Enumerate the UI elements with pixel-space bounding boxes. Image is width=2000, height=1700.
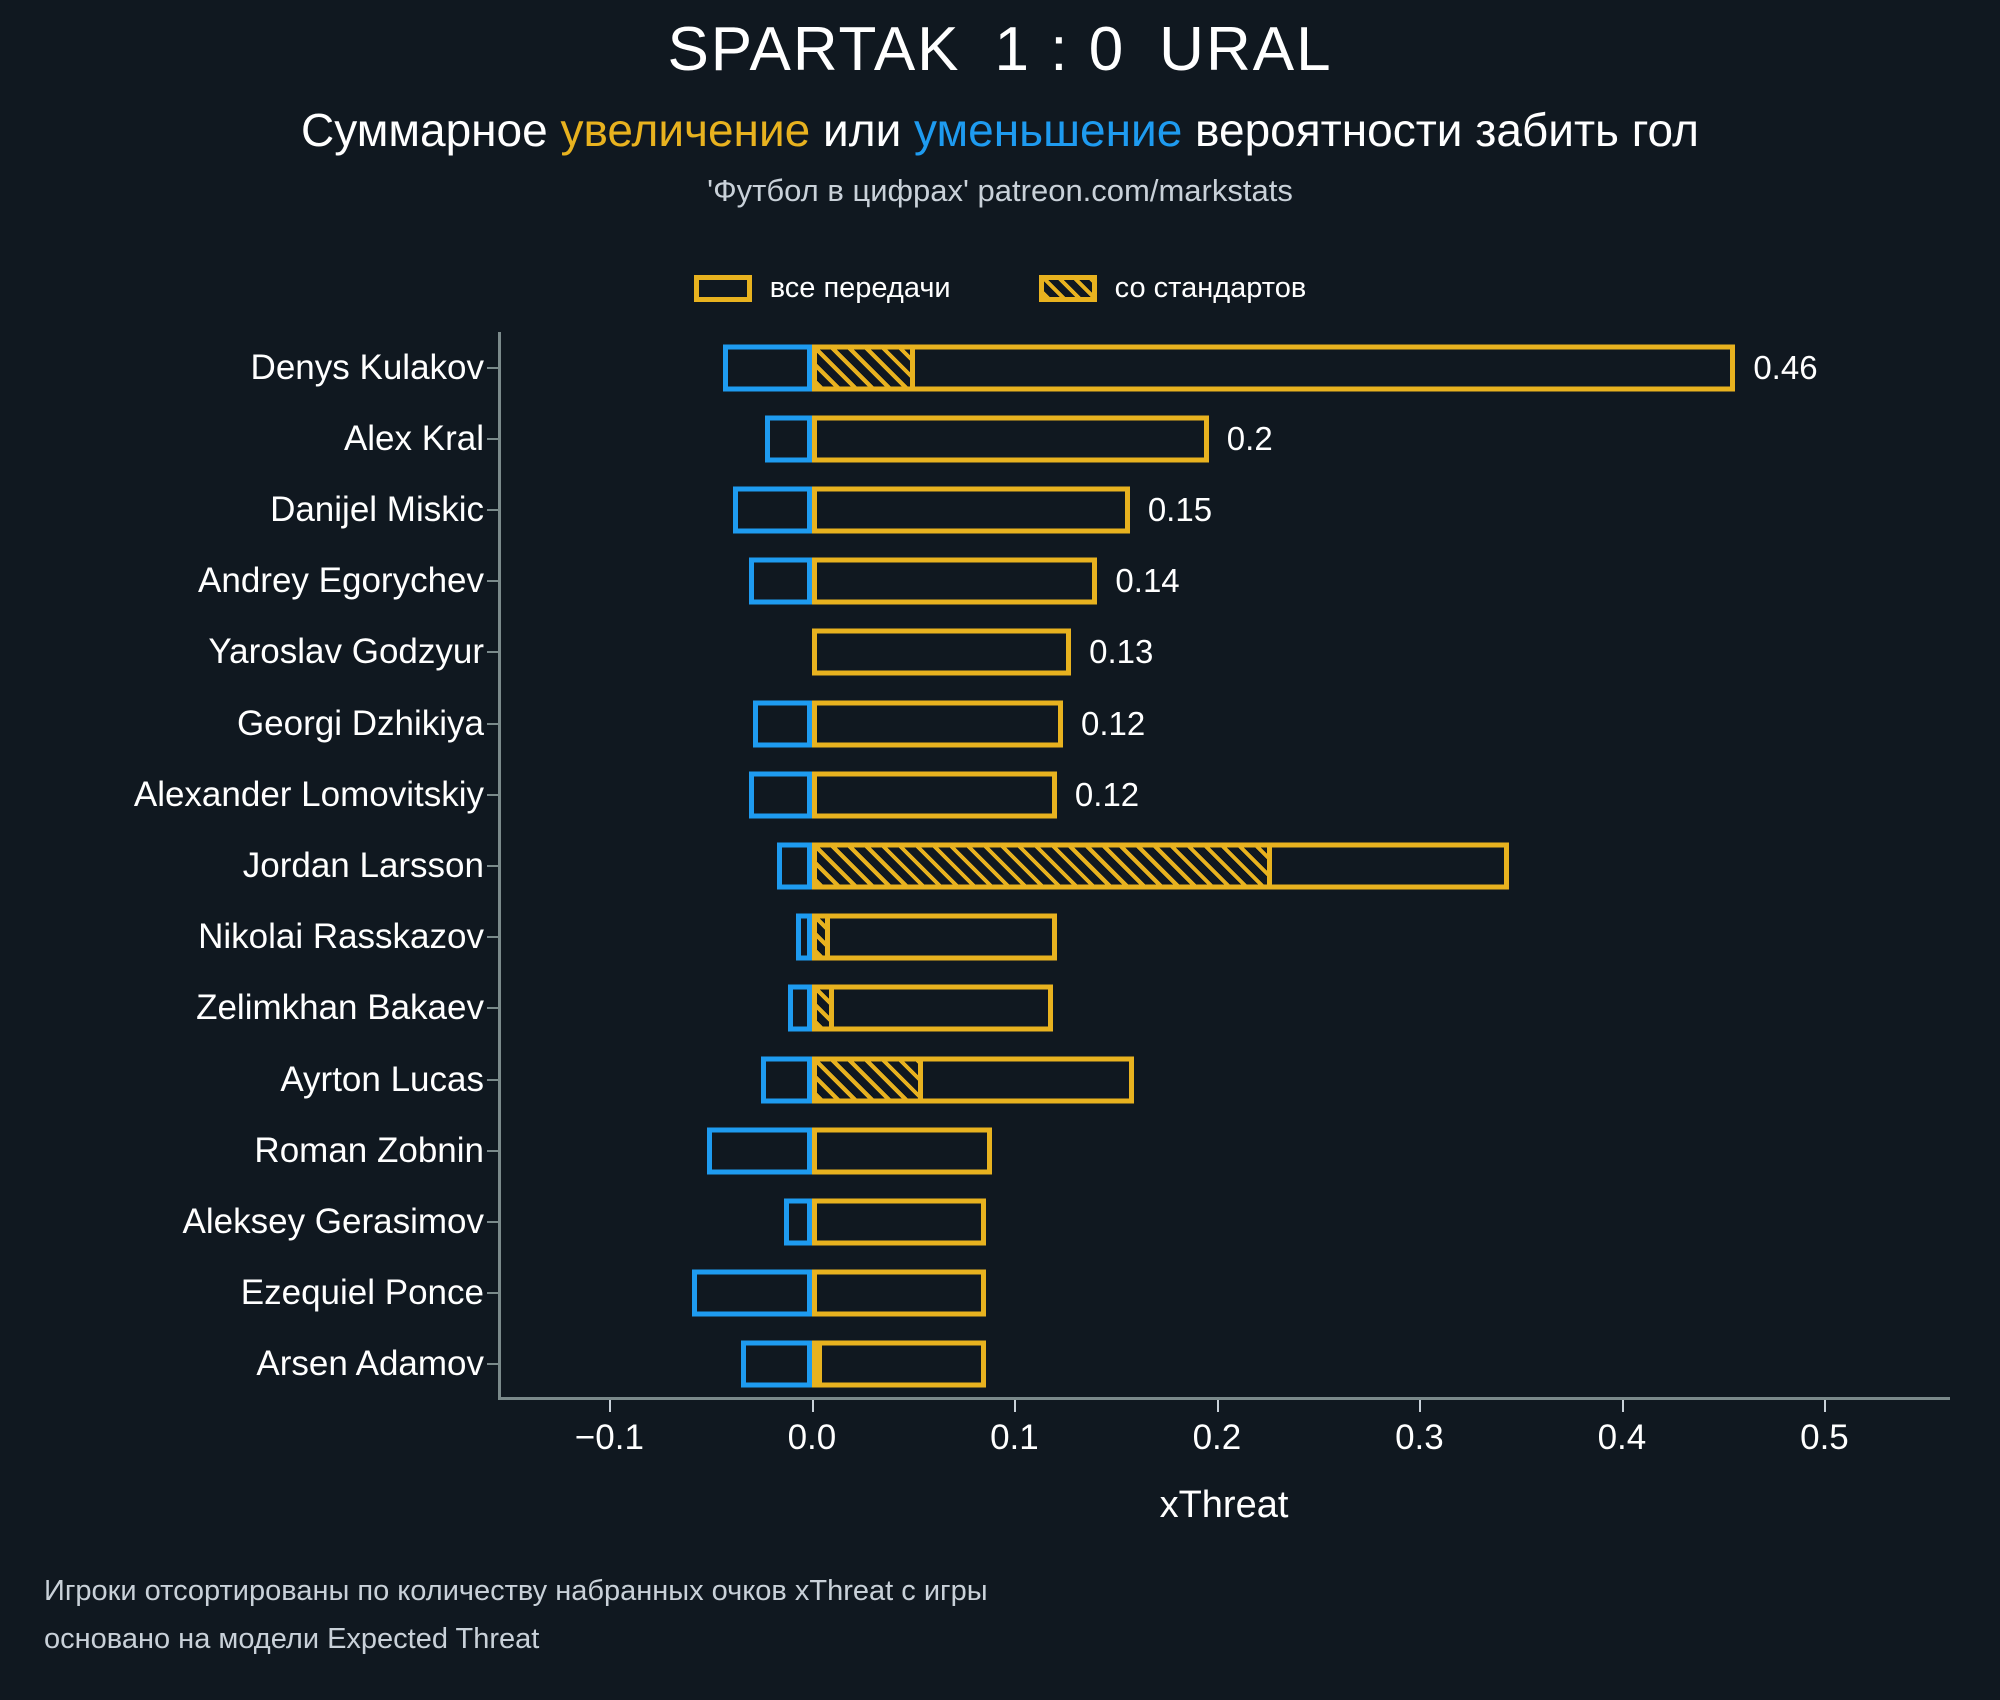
bar-negative	[733, 486, 812, 533]
x-axis-tick-label: −0.1	[575, 1418, 644, 1458]
bar-set-piece	[812, 1341, 822, 1388]
bar-row: Yaroslav Godzyur0.13	[498, 617, 1950, 688]
x-axis-tick-label: 0.2	[1193, 1418, 1242, 1458]
bar-negative	[784, 1198, 812, 1245]
x-axis-tick	[1622, 1400, 1624, 1412]
chart-subtitle: Суммарное увеличение или уменьшение веро…	[0, 103, 2000, 157]
match-title: SPARTAK1 : 0URAL	[0, 14, 2000, 85]
x-axis-tick	[1419, 1400, 1421, 1412]
bar-positive	[812, 558, 1098, 605]
bar-set-piece	[812, 914, 830, 961]
bar-negative	[707, 1127, 812, 1174]
bar-positive	[812, 1127, 992, 1174]
x-axis-tick	[812, 1400, 814, 1412]
bar-negative	[723, 344, 812, 391]
bar-positive	[812, 771, 1057, 818]
y-axis-label: Yaroslav Godzyur	[208, 632, 484, 672]
y-axis-tick	[487, 1363, 498, 1365]
bar-negative	[765, 415, 812, 462]
y-axis-label: Danijel Miskic	[270, 490, 484, 530]
y-axis-label: Zelimkhan Bakaev	[196, 988, 484, 1028]
bar-negative	[749, 558, 812, 605]
subtitle-text-2: или	[810, 104, 914, 156]
credit-line: 'Футбол в цифрах' patreon.com/markstats	[0, 173, 2000, 209]
y-axis-label: Denys Kulakov	[251, 348, 484, 388]
y-axis-tick	[487, 367, 498, 369]
bar-row: Roman Zobnin	[498, 1115, 1950, 1186]
y-axis-tick	[487, 509, 498, 511]
footnote-line-1: Игроки отсортированы по количеству набра…	[44, 1568, 988, 1616]
bar-negative	[692, 1270, 811, 1317]
y-axis-label: Nikolai Rasskazov	[198, 917, 484, 957]
bar-row: Ezequiel Ponce	[498, 1258, 1950, 1329]
bar-negative	[761, 1056, 812, 1103]
legend-label-all-passes: все передачи	[770, 272, 951, 305]
legend-item-all-passes: все передачи	[694, 272, 951, 305]
bar-positive	[812, 415, 1209, 462]
y-axis-label: Ayrton Lucas	[280, 1060, 484, 1100]
bar-negative	[753, 700, 812, 747]
x-axis-tick	[609, 1400, 611, 1412]
y-axis-label: Jordan Larsson	[243, 846, 484, 886]
y-axis-label: Andrey Egorychev	[198, 561, 484, 601]
bar-positive	[812, 344, 1735, 391]
bar-positive	[812, 1270, 986, 1317]
match-score: 1 : 0	[995, 15, 1126, 84]
bar-row: Aleksey Gerasimov	[498, 1186, 1950, 1257]
x-axis-tick	[1014, 1400, 1016, 1412]
y-axis-tick	[487, 580, 498, 582]
bar-set-piece	[812, 842, 1272, 889]
home-team-name: SPARTAK	[667, 15, 960, 84]
bar-row: Danijel Miskic0.15	[498, 474, 1950, 545]
bar-positive	[812, 486, 1130, 533]
y-axis-tick	[487, 794, 498, 796]
chart-footnotes: Игроки отсортированы по количеству набра…	[44, 1568, 988, 1664]
x-axis-tick-label: 0.0	[788, 1418, 837, 1458]
bar-negative	[749, 771, 812, 818]
x-axis-tick-label: 0.5	[1800, 1418, 1849, 1458]
bar-positive	[812, 1198, 986, 1245]
bar-negative	[777, 842, 811, 889]
x-axis-tick	[1217, 1400, 1219, 1412]
y-axis-tick	[487, 1221, 498, 1223]
bar-negative	[788, 985, 812, 1032]
y-axis-tick	[487, 651, 498, 653]
y-axis-label: Alexander Lomovitskiy	[134, 775, 484, 815]
bar-chart-plot-area: Denys Kulakov0.46Alex Kral0.2Danijel Mis…	[498, 332, 1950, 1400]
y-axis-label: Ezequiel Ponce	[241, 1273, 484, 1313]
bar-row: Ayrton Lucas	[498, 1044, 1950, 1115]
bar-value-label: 0.12	[1081, 705, 1145, 743]
bar-set-piece	[812, 1056, 923, 1103]
away-team-name: URAL	[1159, 15, 1332, 84]
legend-item-set-pieces: со стандартов	[1039, 272, 1307, 305]
bar-positive	[812, 1341, 986, 1388]
bar-positive	[812, 700, 1063, 747]
bar-row: Arsen Adamov	[498, 1329, 1950, 1400]
bar-negative	[741, 1341, 812, 1388]
bar-value-label: 0.14	[1115, 562, 1179, 600]
bar-row: Alex Kral0.2	[498, 403, 1950, 474]
y-axis-label: Alex Kral	[344, 419, 484, 459]
y-axis-label: Georgi Dzhikiya	[237, 704, 484, 744]
subtitle-text-1: Суммарное	[301, 104, 560, 156]
y-axis-tick	[487, 723, 498, 725]
y-axis-label: Roman Zobnin	[254, 1131, 484, 1171]
bar-row: Georgi Dzhikiya0.12	[498, 688, 1950, 759]
bar-value-label: 0.13	[1089, 633, 1153, 671]
y-axis-tick	[487, 865, 498, 867]
subtitle-increase-word: увеличение	[561, 104, 811, 156]
bar-positive	[812, 629, 1071, 676]
bar-value-label: 0.2	[1227, 420, 1273, 458]
bar-value-label: 0.15	[1148, 491, 1212, 529]
y-axis-label: Arsen Adamov	[256, 1344, 484, 1384]
legend-swatch-hatched-icon	[1039, 275, 1097, 302]
y-axis-tick	[487, 936, 498, 938]
bar-positive	[812, 985, 1053, 1032]
bar-row: Zelimkhan Bakaev	[498, 973, 1950, 1044]
bar-set-piece	[812, 985, 834, 1032]
chart-header: SPARTAK1 : 0URAL Суммарное увеличение ил…	[0, 0, 2000, 209]
chart-legend: все передачи со стандартов	[0, 272, 2000, 305]
bar-value-label: 0.46	[1753, 349, 1817, 387]
bar-row: Andrey Egorychev0.14	[498, 546, 1950, 617]
bar-row: Jordan Larsson	[498, 830, 1950, 901]
bar-positive	[812, 914, 1057, 961]
footnote-line-2: основано на модели Expected Threat	[44, 1616, 988, 1664]
x-axis-title: xThreat	[498, 1484, 1950, 1527]
bar-row: Alexander Lomovitskiy0.12	[498, 759, 1950, 830]
subtitle-text-3: вероятности забить гол	[1182, 104, 1699, 156]
bar-row: Nikolai Rasskazov	[498, 902, 1950, 973]
subtitle-decrease-word: уменьшение	[914, 104, 1182, 156]
x-axis-tick-label: 0.1	[990, 1418, 1039, 1458]
bar-set-piece	[812, 344, 915, 391]
legend-swatch-outline-icon	[694, 275, 752, 302]
legend-label-set-pieces: со стандартов	[1115, 272, 1307, 305]
x-axis-tick	[1824, 1400, 1826, 1412]
y-axis-tick	[487, 1292, 498, 1294]
x-axis-tick-label: 0.3	[1395, 1418, 1444, 1458]
bar-value-label: 0.12	[1075, 776, 1139, 814]
y-axis-tick	[487, 1150, 498, 1152]
bar-negative	[796, 914, 812, 961]
y-axis-tick	[487, 1007, 498, 1009]
y-axis-label: Aleksey Gerasimov	[183, 1202, 484, 1242]
y-axis-tick	[487, 1079, 498, 1081]
bar-row: Denys Kulakov0.46	[498, 332, 1950, 403]
x-axis-tick-label: 0.4	[1598, 1418, 1647, 1458]
y-axis-tick	[487, 438, 498, 440]
